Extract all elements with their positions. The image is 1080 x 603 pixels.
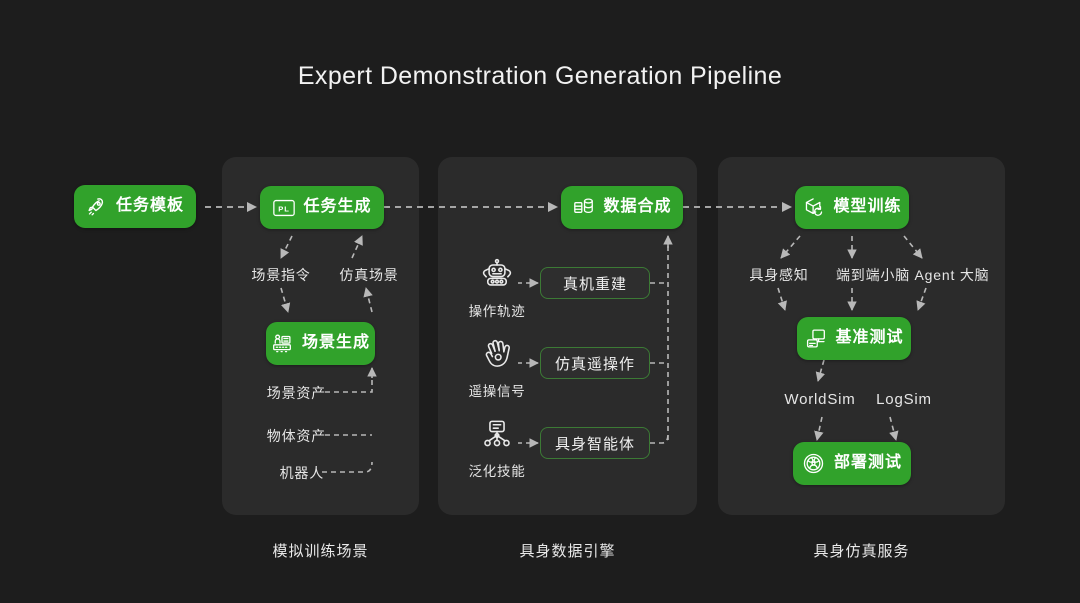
diagram-canvas: Expert Demonstration Generation Pipeline… — [0, 0, 1080, 603]
badge-task-generation[interactable]: PL 任务生成 — [260, 186, 384, 229]
badge-label: 场景生成 — [302, 335, 370, 352]
benchmark-screen-icon — [805, 328, 827, 349]
label-scene-instruction: 场景指令 — [236, 265, 326, 285]
badge-benchmark-test[interactable]: 基准测试 — [797, 317, 911, 360]
label-robot: 机器人 — [246, 463, 324, 483]
label-scene-assets: 场景资产 — [246, 383, 326, 403]
box-real-machine-reconstruction[interactable]: 真机重建 — [540, 267, 650, 299]
data-sync-icon — [573, 197, 595, 218]
box-embodied-agent[interactable]: 具身智能体 — [540, 427, 650, 459]
label-embodied-perception: 具身感知 — [736, 265, 822, 285]
svg-text:PL: PL — [278, 204, 289, 213]
label-object-assets: 物体资产 — [246, 426, 326, 446]
badge-deployment-test[interactable]: 部署测试 — [793, 442, 911, 485]
badge-label: 数据合成 — [604, 199, 672, 216]
panel-caption-embodied-simulation-service: 具身仿真服务 — [718, 540, 1005, 561]
pl-frame-icon: PL — [273, 199, 295, 217]
label-worldsim: WorldSim — [772, 391, 868, 408]
badge-label: 模型训练 — [834, 199, 902, 216]
glove-hand-icon — [480, 338, 514, 375]
badge-data-synthesis[interactable]: 数据合成 — [561, 186, 683, 229]
badge-label: 基准测试 — [836, 330, 904, 347]
neural-net-icon — [480, 418, 514, 455]
badge-scene-generation[interactable]: 场景生成 — [266, 322, 375, 365]
label-logsim: LogSim — [868, 391, 940, 408]
item-caption: 遥操信号 — [469, 380, 526, 400]
item-generalization-skill: 泛化技能 — [466, 418, 528, 480]
item-operation-trajectory: 操作轨迹 — [466, 258, 528, 320]
cube-refresh-icon — [803, 197, 825, 218]
badge-model-training[interactable]: 模型训练 — [795, 186, 909, 229]
item-caption: 操作轨迹 — [469, 300, 526, 320]
item-caption: 泛化技能 — [469, 460, 526, 480]
item-teleop-signal: 遥操信号 — [466, 338, 528, 400]
robot-icon — [480, 258, 514, 295]
scene-robot-icon — [271, 333, 293, 354]
panel-caption-simulation-training-scene: 模拟训练场景 — [222, 540, 419, 561]
deploy-globe-icon — [802, 452, 825, 475]
rocket-icon — [86, 196, 107, 217]
badge-task-template[interactable]: 任务模板 — [74, 185, 196, 228]
badge-label: 部署测试 — [834, 455, 902, 472]
badge-label: 任务生成 — [304, 199, 372, 216]
page-title: Expert Demonstration Generation Pipeline — [0, 62, 1080, 91]
badge-label: 任务模板 — [116, 198, 184, 215]
panel-caption-embodied-data-engine: 具身数据引擎 — [438, 540, 697, 561]
box-simulated-teleoperation[interactable]: 仿真遥操作 — [540, 347, 650, 379]
label-simulation-scene: 仿真场景 — [324, 265, 414, 285]
label-agent-brain: Agent 大脑 — [905, 265, 999, 285]
